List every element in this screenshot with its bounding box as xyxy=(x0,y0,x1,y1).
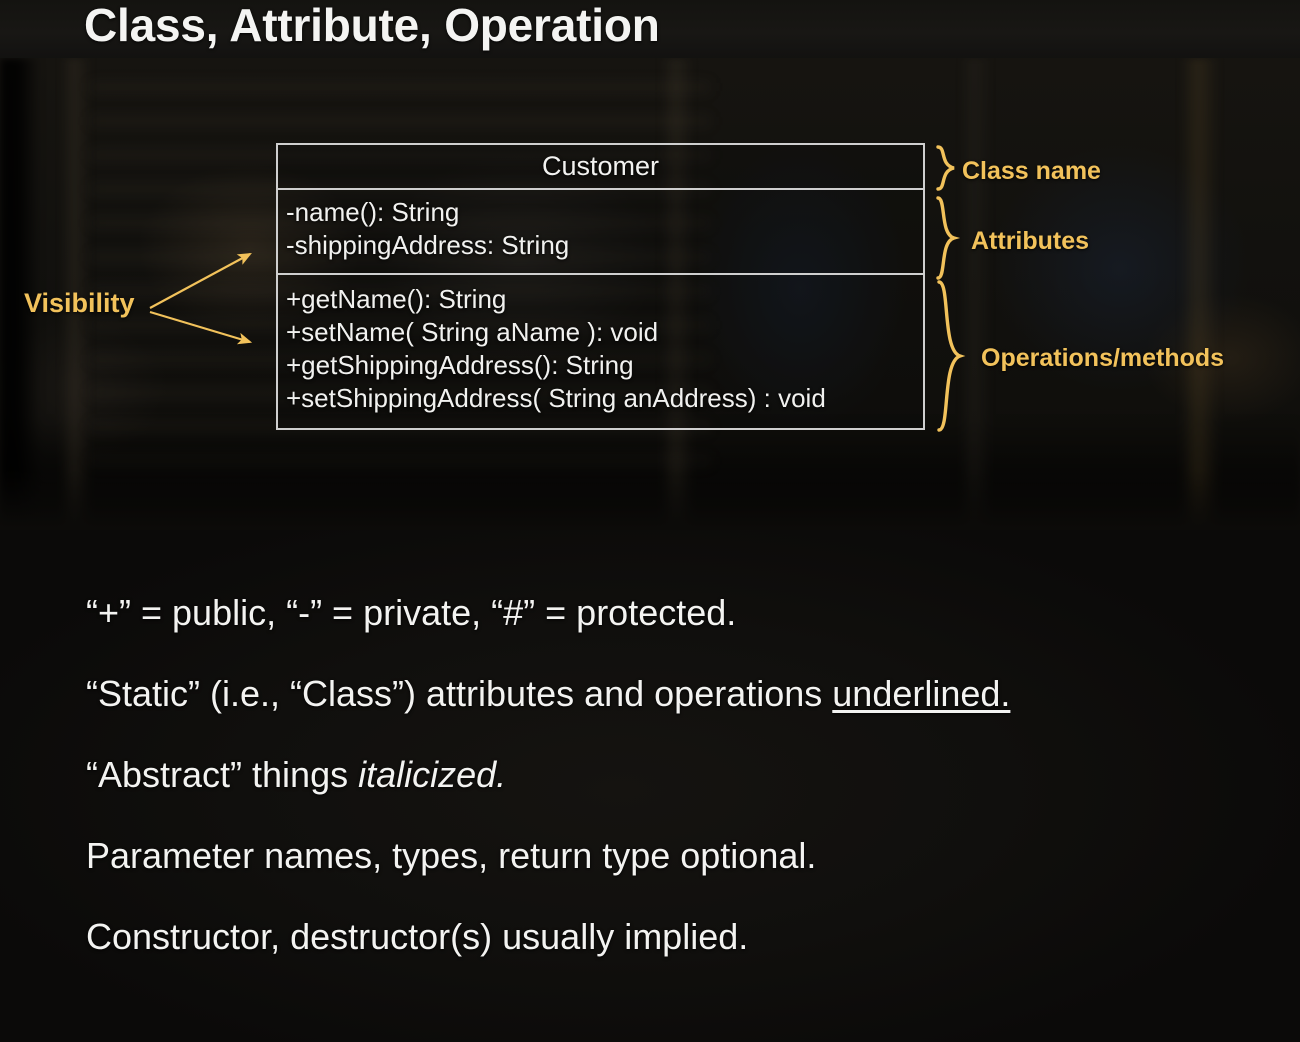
bullet-segment: “Abstract” things xyxy=(86,754,358,795)
uml-class-box: Customer -name(): String -shippingAddres… xyxy=(276,143,925,430)
operation-row: +getShippingAddress(): String xyxy=(286,349,923,382)
bullet-visibility-symbols: “+” = public, “-” = private, “#” = prote… xyxy=(86,585,1236,640)
annotation-visibility-label: Visibility xyxy=(24,288,135,319)
bullet-segment: Constructor, destructor(s) usually impli… xyxy=(86,916,748,957)
operation-row: +setName( String aName ): void xyxy=(286,316,923,349)
bullet-parameters-optional: Parameter names, types, return type opti… xyxy=(86,828,1236,883)
bullet-segment: italicized. xyxy=(358,754,506,795)
attribute-row: -shippingAddress: String xyxy=(286,229,923,262)
bullet-segment: “+” = public, “-” = private, “#” = prote… xyxy=(86,592,736,633)
visibility-arrow-icon xyxy=(140,232,270,362)
annotation-class-name-label: Class name xyxy=(962,157,1101,186)
bullet-abstract-italic: “Abstract” things italicized. xyxy=(86,747,1236,802)
bullet-segment: underlined. xyxy=(832,673,1010,714)
attributes-compartment: -name(): String -shippingAddress: String xyxy=(278,190,923,275)
slide-title: Class, Attribute, Operation xyxy=(84,0,660,52)
operations-compartment: +getName(): String +setName( String aNam… xyxy=(278,275,923,428)
class-name-compartment: Customer xyxy=(278,145,923,190)
slide-canvas: Class, Attribute, Operation Customer -na… xyxy=(0,0,1300,1042)
annotation-attributes-label: Attributes xyxy=(971,227,1089,256)
bullet-constructor-implied: Constructor, destructor(s) usually impli… xyxy=(86,909,1236,964)
curly-brace-class-name-icon xyxy=(934,145,960,191)
curly-brace-operations-icon xyxy=(934,280,968,432)
class-name-text: Customer xyxy=(542,151,659,182)
annotation-operations-label: Operations/methods xyxy=(981,344,1224,373)
operation-row: +getName(): String xyxy=(286,283,923,316)
curly-brace-attributes-icon xyxy=(934,196,960,280)
operation-row: +setShippingAddress( String anAddress) :… xyxy=(286,382,923,415)
bullet-static-underlined: “Static” (i.e., “Class”) attributes and … xyxy=(86,666,1236,721)
bullet-segment: “Static” (i.e., “Class”) attributes and … xyxy=(86,673,832,714)
attribute-row: -name(): String xyxy=(286,196,923,229)
bullet-segment: Parameter names, types, return type opti… xyxy=(86,835,816,876)
body-text-block: “+” = public, “-” = private, “#” = prote… xyxy=(86,585,1236,964)
